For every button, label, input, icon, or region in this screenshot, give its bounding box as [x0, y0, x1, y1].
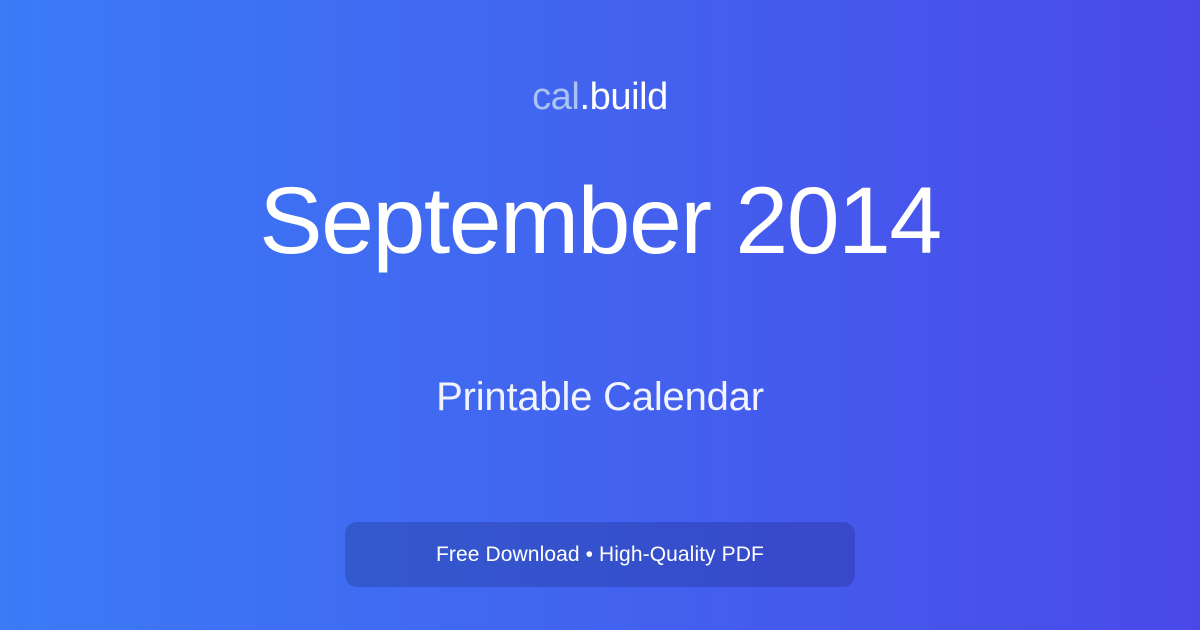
download-badge-label: Free Download • High-Quality PDF	[436, 544, 764, 565]
brand-logo[interactable]: cal.build	[532, 78, 668, 116]
brand-logo-primary: cal	[532, 76, 579, 118]
brand-logo-suffix: .build	[579, 76, 667, 118]
page-title: September 2014	[259, 174, 940, 269]
download-badge[interactable]: Free Download • High-Quality PDF	[345, 522, 855, 587]
og-preview-card: cal.build September 2014 Printable Calen…	[0, 0, 1200, 630]
page-subtitle: Printable Calendar	[436, 377, 764, 417]
